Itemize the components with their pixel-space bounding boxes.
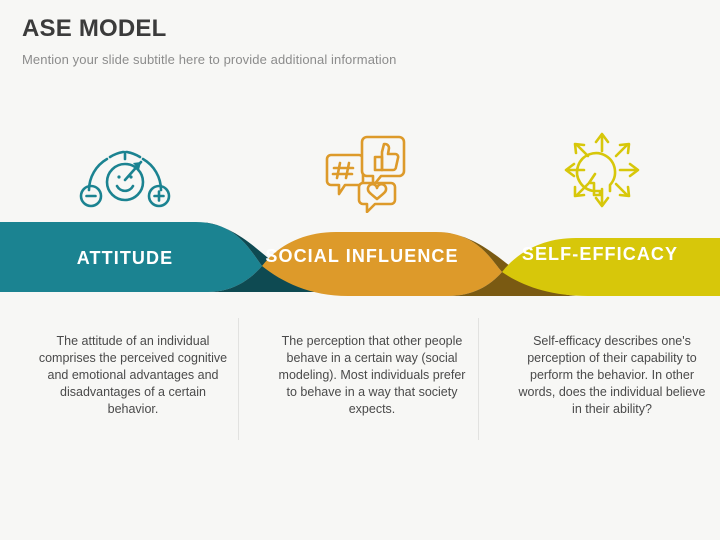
description-attitude: The attitude of an individual comprises …: [33, 333, 233, 418]
icon-slot-attitude: [5, 126, 245, 218]
icon-slot-social-influence: [245, 126, 485, 218]
column-divider-1: [238, 318, 239, 440]
social-speech-bubbles-icon: [319, 127, 411, 218]
ribbon-label-self-efficacy: SELF-EFFICACY: [500, 244, 700, 265]
attitude-gauge-smiley-icon: [77, 128, 173, 217]
column-divider-2: [478, 318, 479, 440]
ribbon-label-social-influence: SOCIAL INFLUENCE: [248, 246, 476, 267]
page-subtitle: Mention your slide subtitle here to prov…: [22, 51, 682, 69]
description-self-efficacy: Self-efficacy describes one's perception…: [512, 333, 712, 418]
description-social-influence: The perception that other people behave …: [272, 333, 472, 418]
page-title: ASE MODEL: [22, 14, 682, 44]
head-radiating-arrows-icon: [554, 125, 650, 220]
ribbon-label-attitude: ATTITUDE: [30, 248, 220, 269]
slide-header: ASE MODEL Mention your slide subtitle he…: [22, 14, 682, 69]
icon-slot-self-efficacy: [482, 126, 720, 218]
slide-canvas: ASE MODEL Mention your slide subtitle he…: [0, 0, 720, 540]
